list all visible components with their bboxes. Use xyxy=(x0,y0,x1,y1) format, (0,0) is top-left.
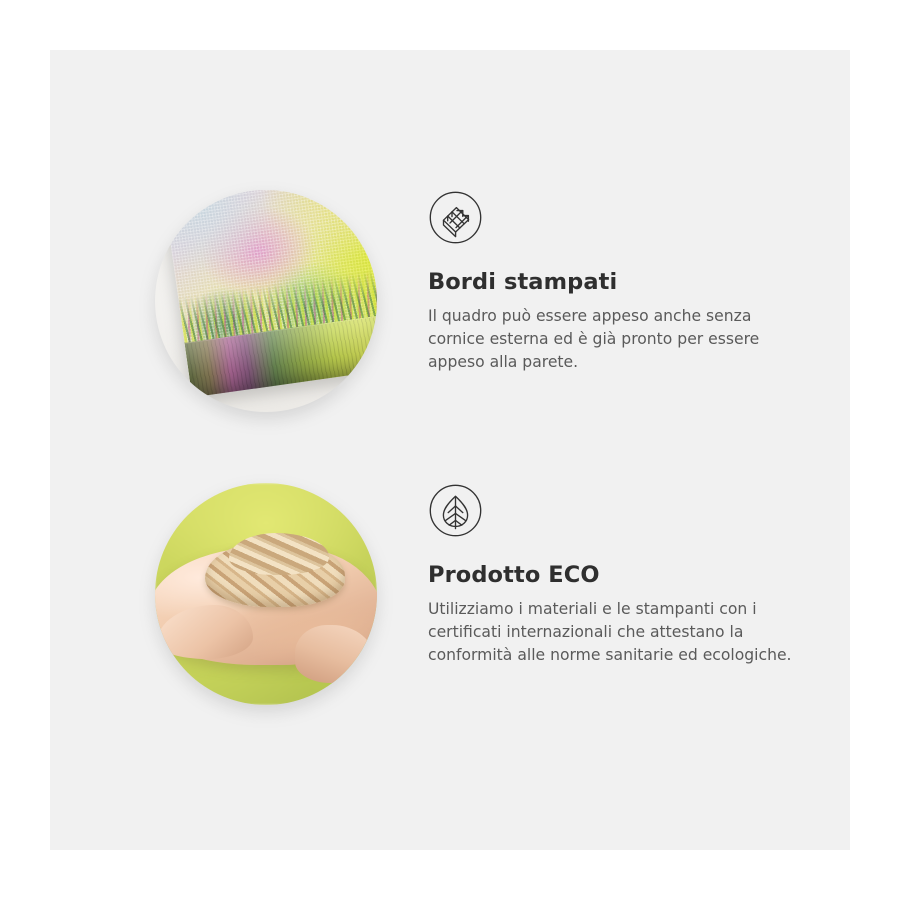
printed-canvas-edges-icon xyxy=(428,190,483,245)
feature-description: Il quadro può essere appeso anche senza … xyxy=(428,305,793,374)
feature-block-eco: Prodotto ECO Utilizziamo i materiali e l… xyxy=(50,483,850,758)
feature-copy-eco: Prodotto ECO Utilizziamo i materiali e l… xyxy=(428,483,808,667)
canvas-block xyxy=(164,190,377,397)
wood-chips-top xyxy=(229,533,329,575)
hands-wood-chips-photo-inner xyxy=(155,483,377,705)
feature-block-printed-edges: Bordi stampati Il quadro può essere appe… xyxy=(50,190,850,465)
page-root: Bordi stampati Il quadro può essere appe… xyxy=(0,0,900,900)
hand-thumb xyxy=(157,605,253,659)
canvas-corner-photo-background xyxy=(155,190,377,412)
hands-wood-chips-photo xyxy=(155,483,377,705)
feature-description: Utilizziamo i materiali e le stampanti c… xyxy=(428,598,793,667)
feature-title: Bordi stampati xyxy=(428,269,808,296)
content-panel: Bordi stampati Il quadro può essere appe… xyxy=(50,50,850,850)
leaf-icon xyxy=(428,483,483,538)
feature-title: Prodotto ECO xyxy=(428,562,808,589)
hand-fingers xyxy=(295,625,375,683)
canvas-corner-photo xyxy=(155,190,377,412)
feature-copy-printed-edges: Bordi stampati Il quadro può essere appe… xyxy=(428,190,808,374)
